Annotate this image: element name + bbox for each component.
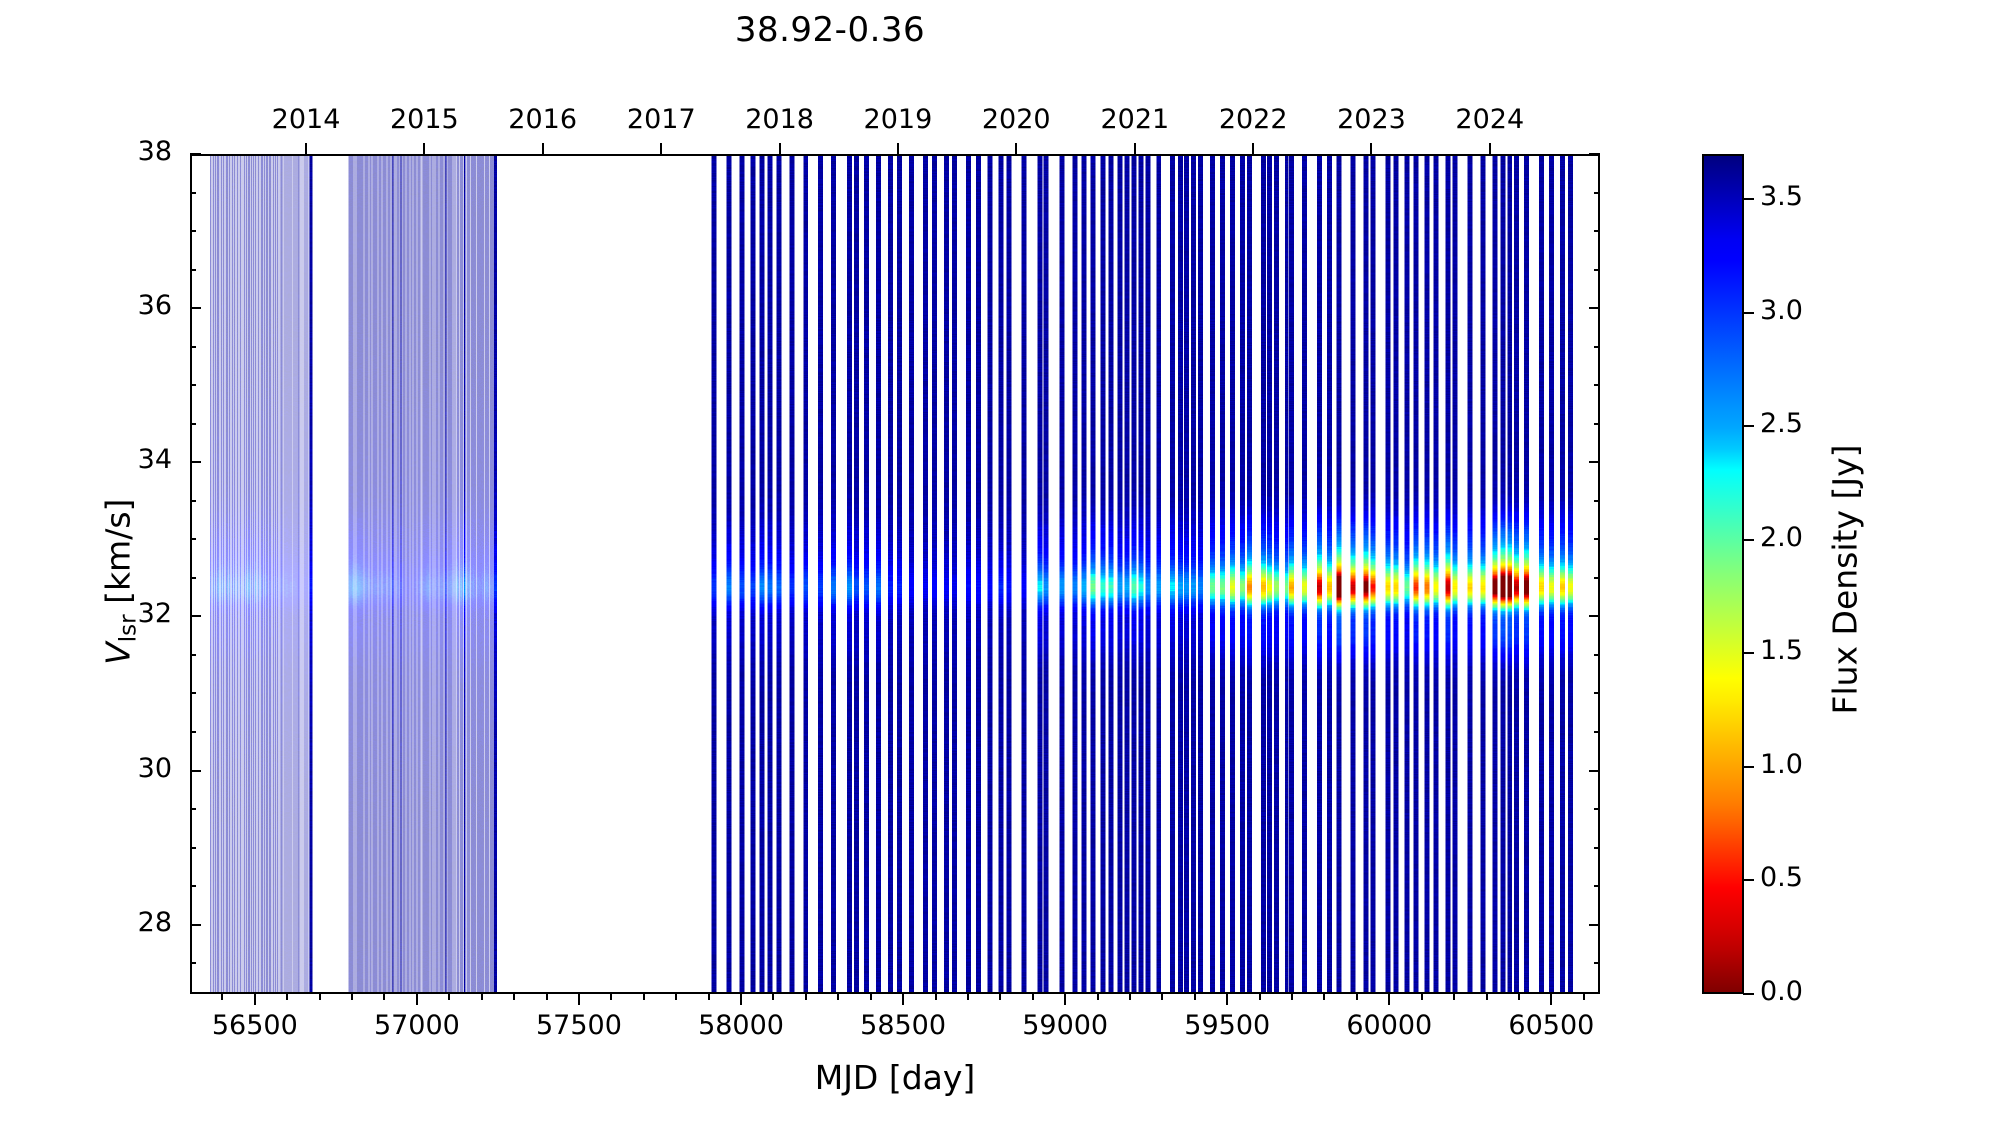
- x-tick-major: [902, 994, 904, 1005]
- x-tick-minor: [351, 994, 353, 1000]
- y-tick-minor: [190, 538, 196, 540]
- y-tick-major-right: [1589, 924, 1600, 926]
- x-tick-major: [1388, 994, 1390, 1005]
- x-tick-minor: [837, 994, 839, 1000]
- y-tick-minor-right: [1594, 384, 1600, 386]
- dynamic-spectrum-image: [192, 156, 1598, 992]
- y-tick-minor-right: [1594, 885, 1600, 887]
- x-tick-minor: [999, 994, 1001, 1000]
- y-tick-minor: [190, 808, 196, 810]
- y-tick-major: [190, 615, 201, 617]
- x-tick-minor: [546, 994, 548, 1000]
- x-tick-minor: [1323, 994, 1325, 1000]
- y-tick-major-right: [1589, 461, 1600, 463]
- heatmap-plot-area[interactable]: [190, 154, 1600, 994]
- x-tick-minor: [1259, 994, 1261, 1000]
- x-tick-minor: [1453, 994, 1455, 1000]
- y-tick-minor-right: [1594, 346, 1600, 348]
- colorbar-tick: [1743, 766, 1754, 768]
- year-tick: [305, 143, 307, 154]
- x-tick-minor: [319, 994, 321, 1000]
- x-tick-major: [740, 994, 742, 1005]
- y-axis-label: Vlsr [km/s]: [98, 162, 141, 1002]
- year-tick-label: 2024: [1390, 104, 1590, 135]
- y-tick-minor: [190, 500, 196, 502]
- colorbar-tick: [1743, 539, 1754, 541]
- colorbar-label: Flux Density [Jy]: [1826, 160, 1865, 1000]
- x-tick-minor: [1356, 994, 1358, 1000]
- y-tick-minor: [190, 230, 196, 232]
- x-tick-major: [578, 994, 580, 1005]
- x-tick-minor: [1583, 994, 1585, 1000]
- x-tick-minor: [448, 994, 450, 1000]
- flux-colorbar[interactable]: [1702, 154, 1744, 994]
- x-tick-major: [1064, 994, 1066, 1005]
- year-tick: [542, 143, 544, 154]
- y-tick-minor-right: [1594, 423, 1600, 425]
- y-tick-major: [190, 307, 201, 309]
- y-tick-major: [190, 153, 201, 155]
- y-tick-minor-right: [1594, 654, 1600, 656]
- colorbar-gradient: [1704, 156, 1742, 992]
- x-axis-label: MJD [day]: [190, 1058, 1600, 1097]
- page-title: 38.92-0.36: [0, 10, 1660, 50]
- x-tick-minor: [1161, 994, 1163, 1000]
- y-tick-major-right: [1589, 615, 1600, 617]
- y-tick-major: [190, 770, 201, 772]
- x-tick-minor: [481, 994, 483, 1000]
- x-tick-minor: [935, 994, 937, 1000]
- y-tick-minor: [190, 847, 196, 849]
- year-tick: [1370, 143, 1372, 154]
- colorbar-tick: [1743, 198, 1754, 200]
- y-tick-minor: [190, 269, 196, 271]
- y-tick-minor: [190, 654, 196, 656]
- y-tick-minor-right: [1594, 538, 1600, 540]
- y-tick-minor: [190, 731, 196, 733]
- y-tick-minor-right: [1594, 230, 1600, 232]
- year-tick: [423, 143, 425, 154]
- y-tick-minor: [190, 577, 196, 579]
- x-tick-minor: [610, 994, 612, 1000]
- colorbar-tick: [1743, 312, 1754, 314]
- colorbar-tick: [1743, 993, 1754, 995]
- year-tick: [1489, 143, 1491, 154]
- y-tick-minor: [190, 885, 196, 887]
- colorbar-tick: [1743, 652, 1754, 654]
- y-tick-minor: [190, 192, 196, 194]
- y-tick-minor-right: [1594, 847, 1600, 849]
- year-tick: [1015, 143, 1017, 154]
- y-tick-major-right: [1589, 153, 1600, 155]
- x-tick-minor: [1032, 994, 1034, 1000]
- y-tick-major: [190, 461, 201, 463]
- y-tick-minor: [190, 423, 196, 425]
- y-tick-minor: [190, 962, 196, 964]
- x-tick-major: [254, 994, 256, 1005]
- colorbar-tick: [1743, 425, 1754, 427]
- year-tick: [897, 143, 899, 154]
- x-tick-minor: [967, 994, 969, 1000]
- y-tick-minor-right: [1594, 577, 1600, 579]
- x-tick-major: [416, 994, 418, 1005]
- x-tick-minor: [513, 994, 515, 1000]
- y-tick-minor-right: [1594, 808, 1600, 810]
- y-tick-major-right: [1589, 307, 1600, 309]
- x-tick-minor: [1291, 994, 1293, 1000]
- x-tick-minor: [221, 994, 223, 1000]
- year-tick: [1252, 143, 1254, 154]
- x-tick-minor: [383, 994, 385, 1000]
- year-tick: [779, 143, 781, 154]
- y-tick-major-right: [1589, 770, 1600, 772]
- y-tick-minor-right: [1594, 692, 1600, 694]
- y-tick-minor-right: [1594, 500, 1600, 502]
- figure-canvas: 38.92-0.36 56500570005750058000585005900…: [0, 0, 2000, 1125]
- x-tick-minor: [1097, 994, 1099, 1000]
- x-tick-minor: [1129, 994, 1131, 1000]
- x-tick-label: 60500: [1451, 1010, 1651, 1041]
- y-tick-minor: [190, 346, 196, 348]
- x-tick-minor: [643, 994, 645, 1000]
- x-tick-minor: [675, 994, 677, 1000]
- x-tick-major: [1550, 994, 1552, 1005]
- x-tick-minor: [772, 994, 774, 1000]
- year-tick: [660, 143, 662, 154]
- y-tick-minor: [190, 384, 196, 386]
- y-tick-major: [190, 924, 201, 926]
- y-tick-minor-right: [1594, 731, 1600, 733]
- x-tick-minor: [1486, 994, 1488, 1000]
- colorbar-tick: [1743, 879, 1754, 881]
- y-tick-minor-right: [1594, 192, 1600, 194]
- x-tick-major: [1226, 994, 1228, 1005]
- y-tick-minor: [190, 692, 196, 694]
- x-tick-minor: [1421, 994, 1423, 1000]
- x-tick-minor: [805, 994, 807, 1000]
- x-tick-minor: [708, 994, 710, 1000]
- y-tick-minor-right: [1594, 269, 1600, 271]
- x-tick-minor: [1518, 994, 1520, 1000]
- year-tick: [1134, 143, 1136, 154]
- x-tick-minor: [286, 994, 288, 1000]
- x-tick-minor: [870, 994, 872, 1000]
- x-tick-minor: [1194, 994, 1196, 1000]
- y-tick-minor-right: [1594, 962, 1600, 964]
- dynamic-spectrum-canvas: [192, 156, 1598, 992]
